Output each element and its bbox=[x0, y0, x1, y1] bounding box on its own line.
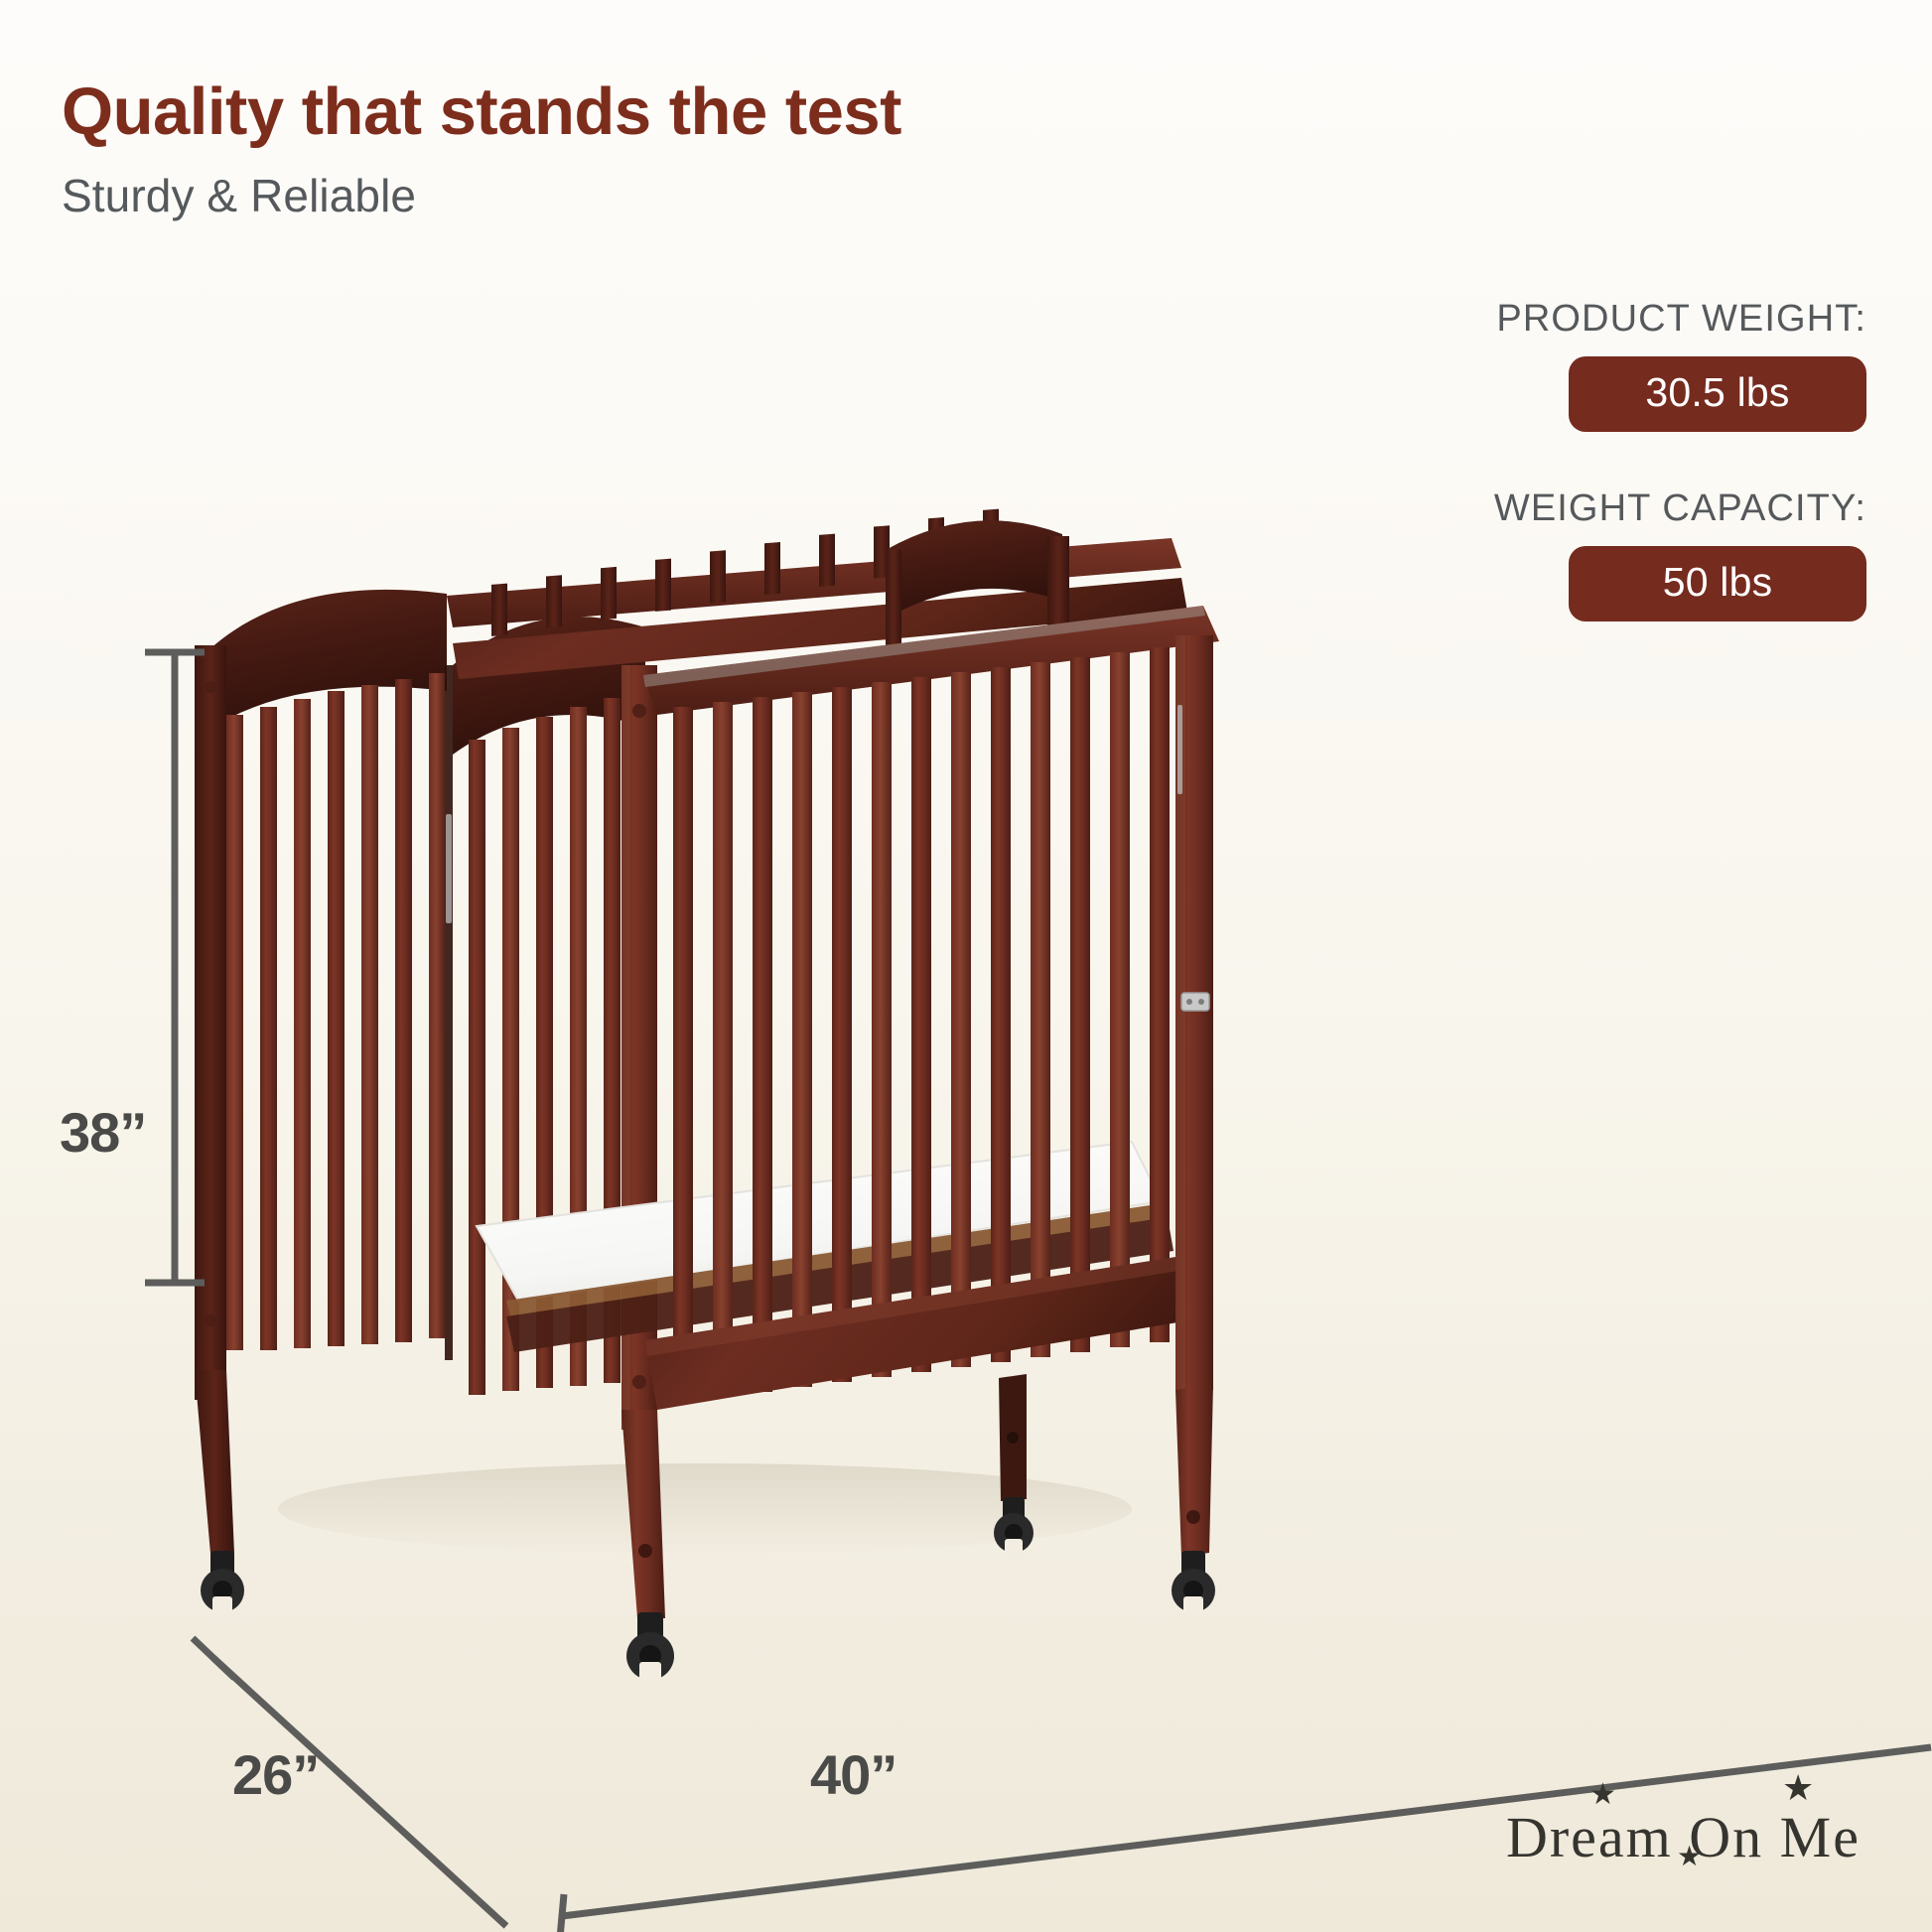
dimension-label-height: 38” bbox=[60, 1100, 146, 1165]
spec-badge-product-weight: 30.5 lbs bbox=[1569, 356, 1866, 432]
spec-badge-weight-capacity: 50 lbs bbox=[1569, 546, 1866, 621]
dimension-label-depth: 26” bbox=[232, 1742, 319, 1807]
star-icon: ★ bbox=[1677, 1844, 1704, 1871]
product-image-crib bbox=[149, 516, 1261, 1618]
rear-right-leg bbox=[999, 1374, 1027, 1501]
star-icon: ★ bbox=[1782, 1770, 1816, 1806]
page-subtitle: Sturdy & Reliable bbox=[62, 169, 901, 222]
hinge-icon bbox=[446, 814, 452, 923]
left-rear-leg bbox=[195, 1370, 234, 1554]
latch-bracket-icon bbox=[1181, 993, 1209, 1011]
spec-list: PRODUCT WEIGHT: 30.5 lbs WEIGHT CAPACITY… bbox=[1494, 298, 1866, 621]
dimension-label-width: 40” bbox=[810, 1742, 897, 1807]
caster-right-front bbox=[1172, 1551, 1215, 1614]
brand-logo: Dream On Me ★ ★ ★ bbox=[1506, 1804, 1861, 1870]
right-front-post bbox=[1175, 635, 1213, 1557]
spec-label-product-weight: PRODUCT WEIGHT: bbox=[1494, 298, 1866, 341]
page-title: Quality that stands the test bbox=[62, 77, 901, 147]
spec-weight-capacity: WEIGHT CAPACITY: 50 lbs bbox=[1494, 487, 1866, 621]
hinge-icon bbox=[1177, 705, 1182, 794]
caster-left-rear bbox=[201, 1551, 244, 1614]
header: Quality that stands the test Sturdy & Re… bbox=[62, 77, 901, 222]
caster-front-left bbox=[626, 1612, 674, 1682]
brand-logo-text: Dream On Me ★ ★ ★ bbox=[1506, 1804, 1861, 1870]
left-end-panel bbox=[195, 590, 453, 1554]
spec-product-weight: PRODUCT WEIGHT: 30.5 lbs bbox=[1494, 298, 1866, 432]
spec-label-weight-capacity: WEIGHT CAPACITY: bbox=[1494, 487, 1866, 530]
left-rear-post bbox=[195, 645, 226, 1400]
right-front-leg bbox=[1175, 1384, 1213, 1557]
star-icon: ★ bbox=[1589, 1780, 1618, 1810]
